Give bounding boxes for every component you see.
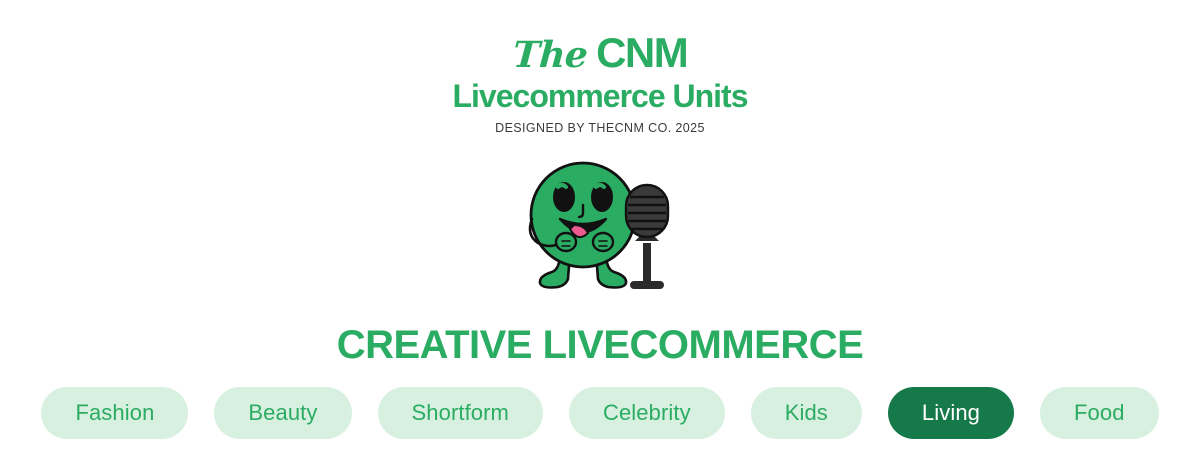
brand-title-line-2: Livecommerce Units — [452, 80, 747, 112]
category-pill-shortform[interactable]: Shortform — [378, 387, 543, 439]
brand-credit-line: DESIGNED BY THECNM CO. 2025 — [452, 122, 747, 135]
mascot-illustration — [500, 157, 700, 307]
category-pill-living[interactable]: Living — [888, 387, 1014, 439]
brand-cnm-word: CNM — [596, 32, 687, 74]
page-root: The CNM Livecommerce Units DESIGNED BY T… — [0, 0, 1200, 469]
category-pill-celebrity[interactable]: Celebrity — [569, 387, 725, 439]
category-pill-food[interactable]: Food — [1040, 387, 1159, 439]
category-pill-beauty[interactable]: Beauty — [214, 387, 351, 439]
brand-the-word: The — [511, 37, 588, 73]
page-title: CREATIVE LIVECOMMERCE — [337, 325, 864, 365]
category-pill-row: Fashion Beauty Shortform Celebrity Kids … — [41, 387, 1158, 439]
brand-title-line-1: The CNM — [452, 32, 747, 74]
microphone-icon — [626, 185, 668, 289]
mascot-svg — [508, 157, 693, 307]
brand-block: The CNM Livecommerce Units DESIGNED BY T… — [452, 32, 747, 135]
category-pill-fashion[interactable]: Fashion — [41, 387, 188, 439]
category-pill-kids[interactable]: Kids — [751, 387, 862, 439]
